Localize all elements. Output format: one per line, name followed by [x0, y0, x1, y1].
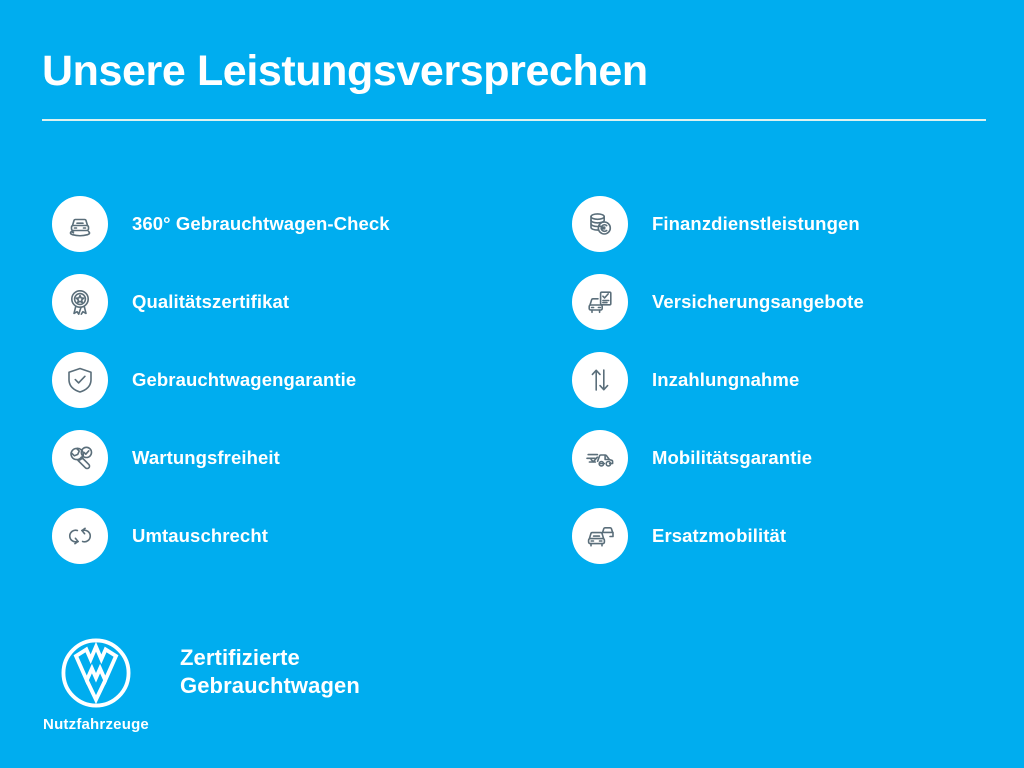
page-title: Unsere Leistungsversprechen — [42, 48, 986, 95]
list-item-label: 360° Gebrauchtwagen-Check — [132, 213, 390, 235]
up-down-arrows-icon — [572, 352, 628, 408]
list-item-label: Gebrauchtwagengarantie — [132, 369, 356, 391]
brand-claim: Zertifizierte Gebrauchtwagen — [180, 644, 360, 700]
promises-grid: 360° Gebrauchtwagen-Check Qualitätszerti… — [0, 196, 1024, 564]
list-item-label: Qualitätszertifikat — [132, 291, 289, 313]
list-item-label: Inzahlungnahme — [652, 369, 799, 391]
award-rosette-icon — [52, 274, 108, 330]
promises-right-column: Finanzdienstleistungen — [512, 196, 1024, 564]
brand-mark: Nutzfahrzeuge — [44, 636, 148, 733]
coins-euro-icon — [572, 196, 628, 252]
brand-lockup: Nutzfahrzeuge Zertifizierte Gebrauchtwag… — [44, 636, 360, 733]
shield-check-icon — [52, 352, 108, 408]
car-360-check-icon — [52, 196, 108, 252]
car-motion-icon — [572, 430, 628, 486]
list-item-label: Versicherungsangebote — [652, 291, 864, 313]
exchange-arrows-icon — [52, 508, 108, 564]
header: Unsere Leistungsversprechen — [42, 48, 986, 121]
list-item[interactable]: Ersatzmobilität — [572, 508, 1024, 564]
two-cars-icon — [572, 508, 628, 564]
volkswagen-logo-icon — [59, 636, 133, 710]
list-item-label: Umtauschrecht — [132, 525, 268, 547]
list-item[interactable]: Gebrauchtwagengarantie — [52, 352, 512, 408]
list-item-label: Mobilitätsgarantie — [652, 447, 812, 469]
list-item[interactable]: Qualitätszertifikat — [52, 274, 512, 330]
list-item-label: Ersatzmobilität — [652, 525, 786, 547]
list-item-label: Wartungsfreiheit — [132, 447, 280, 469]
promises-left-column: 360° Gebrauchtwagen-Check Qualitätszerti… — [0, 196, 512, 564]
list-item[interactable]: Wartungsfreiheit — [52, 430, 512, 486]
list-item[interactable]: Inzahlungnahme — [572, 352, 1024, 408]
wrench-check-icon — [52, 430, 108, 486]
list-item[interactable]: Umtauschrecht — [52, 508, 512, 564]
brand-claim-line-1: Zertifizierte — [180, 644, 360, 672]
list-item-label: Finanzdienstleistungen — [652, 213, 860, 235]
slide-root: Unsere Leistungsversprechen — [0, 0, 1024, 768]
title-divider — [42, 119, 986, 121]
brand-claim-line-2: Gebrauchtwagen — [180, 672, 360, 700]
list-item[interactable]: 360° Gebrauchtwagen-Check — [52, 196, 512, 252]
brand-sub-label: Nutzfahrzeuge — [43, 716, 149, 733]
car-document-check-icon — [572, 274, 628, 330]
list-item[interactable]: Versicherungsangebote — [572, 274, 1024, 330]
list-item[interactable]: Finanzdienstleistungen — [572, 196, 1024, 252]
list-item[interactable]: Mobilitätsgarantie — [572, 430, 1024, 486]
